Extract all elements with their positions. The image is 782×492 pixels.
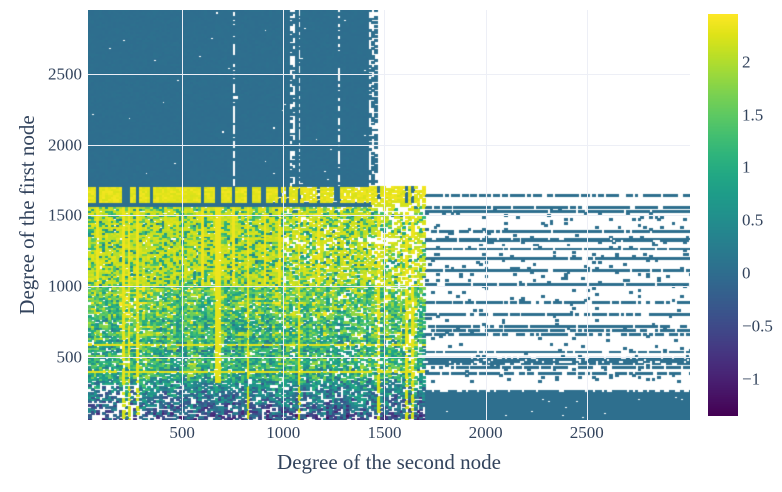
x-tick-label: 2000 bbox=[469, 424, 503, 441]
x-tick-label: 1000 bbox=[266, 424, 300, 441]
x-tick-label: 500 bbox=[169, 424, 195, 441]
x-tick-label: 1500 bbox=[367, 424, 401, 441]
colorbar-tick-label: 0.5 bbox=[742, 212, 763, 229]
colorbar-tick-label: 1 bbox=[742, 159, 751, 176]
colorbar-tick-label: 1.5 bbox=[742, 106, 763, 123]
colorbar-ticks: −1−0.500.511.52 bbox=[742, 14, 782, 416]
y-axis-title: Degree of the first node bbox=[14, 10, 40, 420]
plot-area bbox=[88, 10, 690, 420]
y-tick-label: 1000 bbox=[48, 278, 82, 295]
colorbar-tick-label: 2 bbox=[742, 53, 751, 70]
y-tick-label: 1500 bbox=[48, 207, 82, 224]
y-axis-ticks: 5001000150020002500 bbox=[0, 10, 82, 420]
heatmap-figure: 5001000150020002500 5001000150020002500 … bbox=[0, 0, 782, 492]
colorbar-gradient bbox=[708, 14, 738, 416]
x-axis-ticks: 5001000150020002500 bbox=[88, 424, 690, 448]
colorbar-tick-label: 0 bbox=[742, 265, 751, 282]
colorbar-tick-label: −1 bbox=[742, 370, 760, 387]
colorbar: −1−0.500.511.52 bbox=[708, 14, 782, 416]
y-tick-label: 2000 bbox=[48, 136, 82, 153]
x-tick-label: 2500 bbox=[570, 424, 604, 441]
heatmap-image bbox=[88, 10, 690, 420]
x-axis-title: Degree of the second node bbox=[88, 452, 690, 473]
y-tick-label: 500 bbox=[57, 348, 83, 365]
colorbar-tick-label: −0.5 bbox=[742, 318, 773, 335]
y-tick-label: 2500 bbox=[48, 65, 82, 82]
